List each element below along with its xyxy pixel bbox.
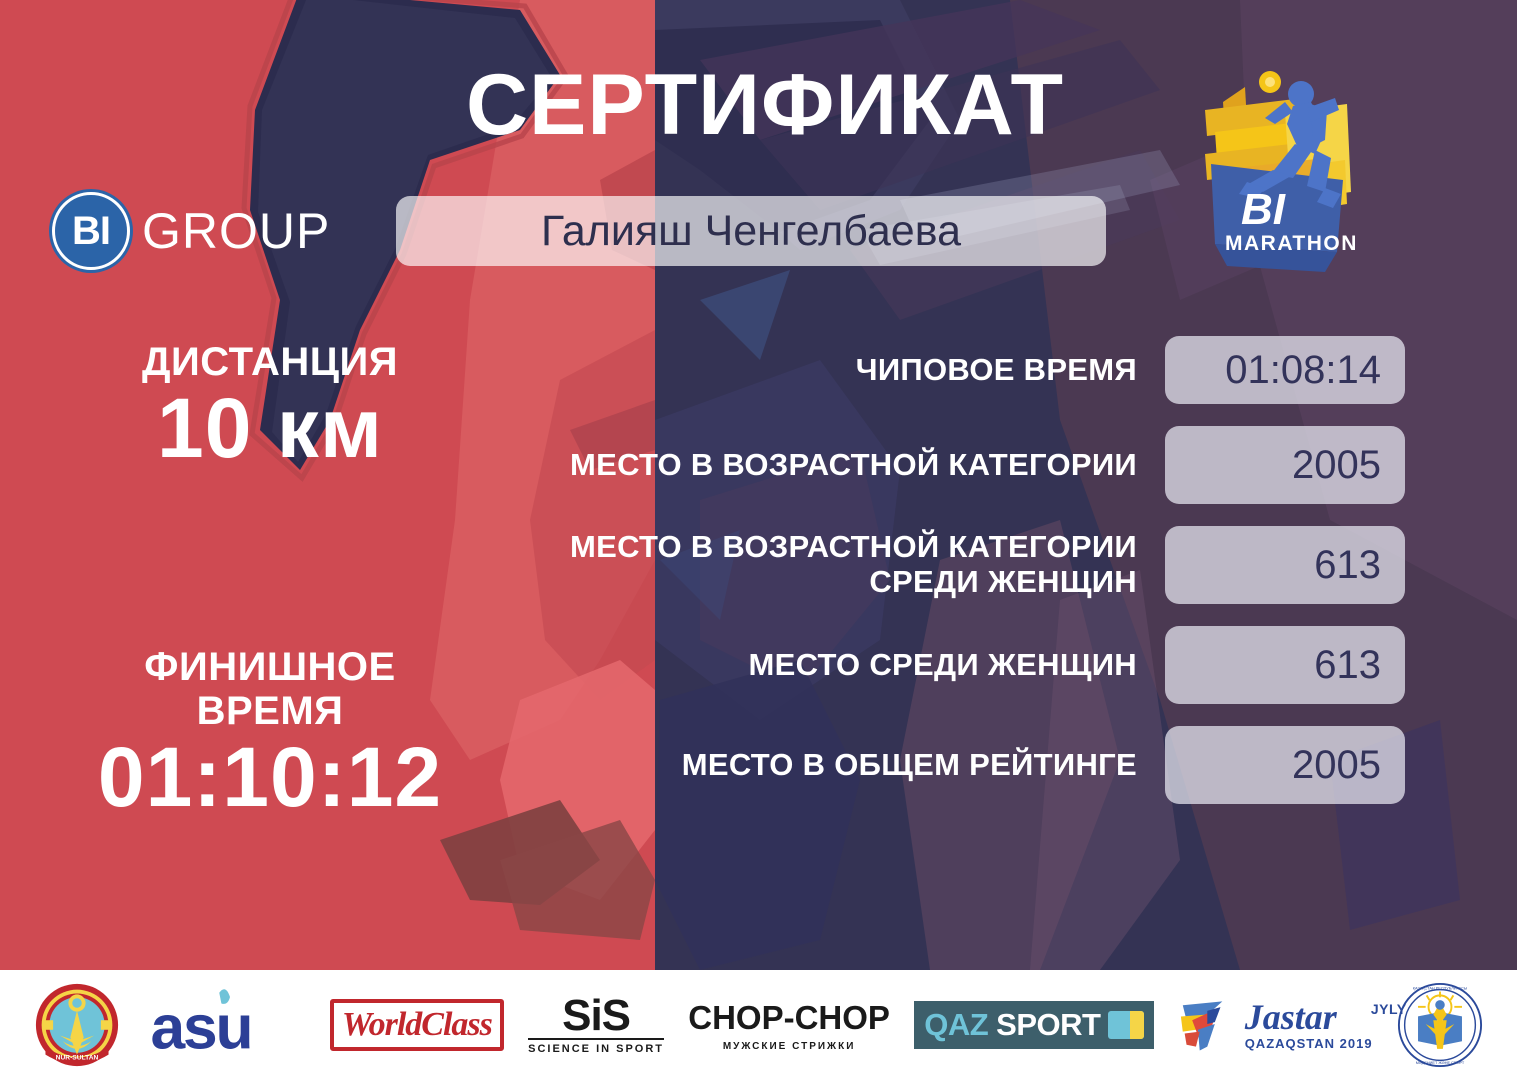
stat-value: 01:08:14 (1165, 336, 1405, 404)
bi-marathon-logo: BI MARATHON (1175, 62, 1380, 297)
distance-label: ДИСТАНЦИЯ (0, 340, 540, 384)
svg-text:NUR-SULTAN: NUR-SULTAN (56, 1054, 99, 1061)
nur-sultan-emblem: NUR-SULTAN (34, 982, 120, 1068)
distance-block: ДИСТАНЦИЯ 10 км (0, 340, 540, 472)
jastar-tagline: QAZAQSTAN 2019 (1245, 1036, 1373, 1051)
participant-name-badge: Галияш Ченгелбаева (396, 196, 1106, 266)
marathon-logo-marathon: MARATHON (1225, 232, 1358, 255)
stat-label: МЕСТО В ВОЗРАСТНОЙ КАТЕГОРИИ (500, 448, 1165, 483)
svg-text:ҚАЗАҚСТАН РЕСПУБЛИКАСЫ: ҚАЗАҚСТАН РЕСПУБЛИКАСЫ (1413, 987, 1468, 991)
world-class-word-a: World (342, 1006, 421, 1044)
finish-time-label-line2: ВРЕМЯ (0, 689, 540, 733)
stats-list: ЧИПОВОЕ ВРЕМЯ 01:08:14 МЕСТО В ВОЗРАСТНО… (500, 336, 1405, 826)
asu-logo: asu (144, 982, 305, 1068)
bi-group-logo: BI GROUP (52, 192, 330, 270)
marathon-logo-bi: BI (1241, 185, 1286, 234)
finish-time-value: 01:10:12 (0, 733, 540, 821)
world-class-logo: WorldClass (330, 982, 504, 1068)
jastar-logo: Jastar JYLY QAZAQSTAN 2019 (1179, 982, 1373, 1068)
stat-label: МЕСТО В ОБЩЕМ РЕЙТИНГЕ (500, 748, 1165, 783)
qazsport-flag-icon (1108, 1011, 1144, 1039)
stat-value: 613 (1165, 526, 1405, 604)
svg-text:asu: asu (151, 994, 252, 1063)
sponsor-bar: NUR-SULTAN asu WorldClass SiS SCIENCE IN… (0, 970, 1517, 1080)
stat-value: 2005 (1165, 426, 1405, 504)
stat-label: МЕСТО СРЕДИ ЖЕНЩИН (500, 648, 1165, 683)
stat-row-age-category-place: МЕСТО В ВОЗРАСТНОЙ КАТЕГОРИИ 2005 (500, 426, 1405, 504)
bi-group-mark: BI (52, 192, 130, 270)
qazsport-logo: QAZSPORT (914, 982, 1154, 1068)
svg-text:МӘДЕНИЕТ ЖӘНЕ СПОРТ: МӘДЕНИЕТ ЖӘНЕ СПОРТ (1416, 1061, 1465, 1065)
stat-row-women-place: МЕСТО СРЕДИ ЖЕНЩИН 613 (500, 626, 1405, 704)
jastar-wordmark: Jastar (1245, 997, 1337, 1037)
chop-chop-wordmark: CHOP-CHOP (688, 999, 890, 1037)
stat-label: ЧИПОВОЕ ВРЕМЯ (500, 353, 1165, 388)
ministry-emblem: ҚАЗАҚСТАН РЕСПУБЛИКАСЫ МӘДЕНИЕТ ЖӘНЕ СПО… (1397, 982, 1483, 1068)
stat-row-overall-place: МЕСТО В ОБЩЕМ РЕЙТИНГЕ 2005 (500, 726, 1405, 804)
page-title: СЕРТИФИКАТ (395, 62, 1135, 148)
world-class-word-b: Class (421, 1006, 492, 1044)
bi-group-wordmark: GROUP (142, 202, 330, 260)
distance-value: 10 км (0, 384, 540, 472)
chop-chop-tagline: МУЖСКИЕ СТРИЖКИ (688, 1041, 890, 1052)
qazsport-word-b: SPORT (996, 1007, 1100, 1043)
certificate-canvas: BI GROUP СЕРТИФИКАТ Галияш Ченгелбаева (0, 0, 1517, 1080)
stat-row-chip-time: ЧИПОВОЕ ВРЕМЯ 01:08:14 (500, 336, 1405, 404)
sis-logo: SiS SCIENCE IN SPORT (528, 982, 664, 1068)
jastar-badge: JYLY (1371, 1001, 1407, 1017)
finish-time-block: ФИНИШНОЕ ВРЕМЯ 01:10:12 (0, 645, 540, 821)
qazsport-word-a: QAZ (924, 1007, 988, 1043)
stat-label: МЕСТО В ВОЗРАСТНОЙ КАТЕГОРИИ СРЕДИ ЖЕНЩИ… (500, 530, 1165, 599)
sis-tagline: SCIENCE IN SPORT (528, 1038, 664, 1055)
sis-wordmark: SiS (528, 995, 664, 1037)
chop-chop-logo: CHOP-CHOP МУЖСКИЕ СТРИЖКИ (688, 982, 890, 1068)
stat-row-age-category-women-place: МЕСТО В ВОЗРАСТНОЙ КАТЕГОРИИ СРЕДИ ЖЕНЩИ… (500, 526, 1405, 604)
stat-value: 2005 (1165, 726, 1405, 804)
finish-time-label-line1: ФИНИШНОЕ (0, 645, 540, 689)
stat-value: 613 (1165, 626, 1405, 704)
